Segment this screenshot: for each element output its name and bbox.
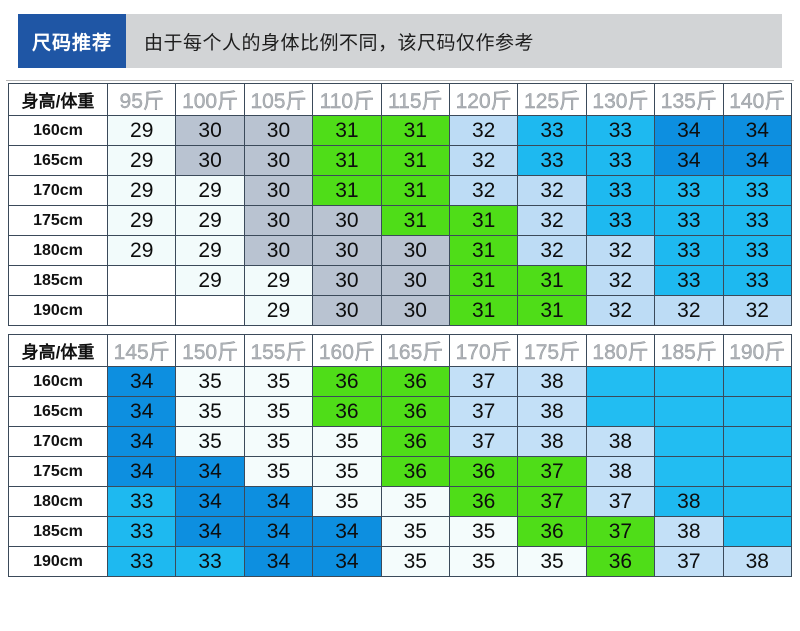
size-cell bbox=[723, 397, 791, 427]
size-cell: 29 bbox=[108, 206, 176, 236]
size-cell: 31 bbox=[381, 146, 449, 176]
table-1-header: 身高/体重95斤100斤105斤110斤115斤120斤125斤130斤135斤… bbox=[9, 84, 792, 116]
weight-column-header: 145斤 bbox=[108, 335, 176, 367]
size-cell bbox=[176, 296, 244, 326]
weight-column-header: 140斤 bbox=[723, 84, 791, 116]
size-cell bbox=[655, 457, 723, 487]
size-cell: 33 bbox=[655, 176, 723, 206]
size-cell: 32 bbox=[586, 266, 654, 296]
size-cell: 34 bbox=[108, 427, 176, 457]
size-cell: 30 bbox=[244, 236, 312, 266]
size-cell: 35 bbox=[381, 547, 449, 577]
size-cell bbox=[655, 367, 723, 397]
size-cell: 33 bbox=[586, 206, 654, 236]
size-cell bbox=[723, 367, 791, 397]
size-cell: 29 bbox=[108, 146, 176, 176]
size-cell: 33 bbox=[655, 206, 723, 236]
table-2-header-row: 身高/体重145斤150斤155斤160斤165斤170斤175斤180斤185… bbox=[9, 335, 792, 367]
weight-column-header: 130斤 bbox=[586, 84, 654, 116]
size-cell: 33 bbox=[586, 176, 654, 206]
size-cell: 36 bbox=[586, 547, 654, 577]
size-cell: 31 bbox=[313, 116, 381, 146]
size-cell: 36 bbox=[449, 457, 517, 487]
weight-column-header: 100斤 bbox=[176, 84, 244, 116]
size-cell: 36 bbox=[381, 457, 449, 487]
size-cell: 33 bbox=[723, 236, 791, 266]
size-cell: 30 bbox=[381, 296, 449, 326]
size-cell: 33 bbox=[518, 146, 586, 176]
banner-tag-label: 尺码推荐 bbox=[18, 14, 126, 68]
size-cell: 32 bbox=[449, 146, 517, 176]
size-cell: 29 bbox=[244, 266, 312, 296]
size-cell: 36 bbox=[381, 367, 449, 397]
height-row-header: 185cm bbox=[9, 266, 108, 296]
size-cell: 31 bbox=[449, 266, 517, 296]
size-cell: 30 bbox=[313, 236, 381, 266]
size-cell: 34 bbox=[108, 397, 176, 427]
size-cell: 38 bbox=[723, 547, 791, 577]
size-cell: 33 bbox=[108, 487, 176, 517]
size-cell: 33 bbox=[655, 236, 723, 266]
height-row-header: 160cm bbox=[9, 367, 108, 397]
size-cell: 29 bbox=[108, 236, 176, 266]
size-cell: 32 bbox=[586, 236, 654, 266]
size-cell: 34 bbox=[244, 517, 312, 547]
size-cell bbox=[723, 457, 791, 487]
size-cell bbox=[723, 427, 791, 457]
table-row: 180cm29293030303132323333 bbox=[9, 236, 792, 266]
size-cell bbox=[723, 517, 791, 547]
height-row-header: 160cm bbox=[9, 116, 108, 146]
size-cell: 30 bbox=[313, 206, 381, 236]
size-cell: 33 bbox=[723, 206, 791, 236]
recommendation-banner: 尺码推荐 由于每个人的身体比例不同，该尺码仅作参考 bbox=[18, 14, 782, 68]
size-cell: 34 bbox=[108, 367, 176, 397]
size-cell: 37 bbox=[518, 487, 586, 517]
size-cell: 29 bbox=[176, 236, 244, 266]
size-cell: 31 bbox=[313, 176, 381, 206]
size-cell: 32 bbox=[449, 176, 517, 206]
size-cell: 30 bbox=[244, 146, 312, 176]
corner-header-table1: 身高/体重 bbox=[9, 84, 108, 116]
size-cell: 29 bbox=[176, 176, 244, 206]
weight-column-header: 190斤 bbox=[723, 335, 791, 367]
size-cell: 36 bbox=[313, 367, 381, 397]
table-1-wrapper: 身高/体重95斤100斤105斤110斤115斤120斤125斤130斤135斤… bbox=[8, 83, 792, 326]
size-cell: 29 bbox=[176, 266, 244, 296]
height-row-header: 165cm bbox=[9, 146, 108, 176]
weight-column-header: 185斤 bbox=[655, 335, 723, 367]
table-row: 175cm29293030313132333333 bbox=[9, 206, 792, 236]
height-row-header: 190cm bbox=[9, 547, 108, 577]
size-chart-page: 尺码推荐 由于每个人的身体比例不同，该尺码仅作参考 身高/体重95斤100斤10… bbox=[0, 14, 800, 631]
size-cell: 37 bbox=[449, 367, 517, 397]
size-cell: 32 bbox=[655, 296, 723, 326]
table-2-header: 身高/体重145斤150斤155斤160斤165斤170斤175斤180斤185… bbox=[9, 335, 792, 367]
size-cell: 30 bbox=[381, 236, 449, 266]
size-cell: 35 bbox=[381, 517, 449, 547]
table-row: 165cm29303031313233333434 bbox=[9, 146, 792, 176]
size-cell: 38 bbox=[655, 517, 723, 547]
weight-column-header: 125斤 bbox=[518, 84, 586, 116]
size-cell: 34 bbox=[655, 116, 723, 146]
weight-column-header: 135斤 bbox=[655, 84, 723, 116]
weight-column-header: 120斤 bbox=[449, 84, 517, 116]
size-cell: 32 bbox=[586, 296, 654, 326]
size-cell: 34 bbox=[108, 457, 176, 487]
size-cell: 30 bbox=[244, 116, 312, 146]
size-cell: 34 bbox=[176, 487, 244, 517]
size-cell: 34 bbox=[244, 547, 312, 577]
size-cell: 37 bbox=[449, 427, 517, 457]
size-cell: 30 bbox=[244, 176, 312, 206]
size-cell: 35 bbox=[313, 427, 381, 457]
size-cell: 34 bbox=[313, 517, 381, 547]
size-cell: 35 bbox=[176, 367, 244, 397]
size-cell: 35 bbox=[244, 367, 312, 397]
table-row: 165cm34353536363738 bbox=[9, 397, 792, 427]
size-cell: 33 bbox=[723, 266, 791, 296]
weight-column-header: 165斤 bbox=[381, 335, 449, 367]
size-cell: 29 bbox=[176, 206, 244, 236]
size-cell bbox=[723, 487, 791, 517]
weight-column-header: 115斤 bbox=[381, 84, 449, 116]
size-cell: 36 bbox=[518, 517, 586, 547]
table-row: 185cm292930303131323333 bbox=[9, 266, 792, 296]
size-cell: 35 bbox=[244, 397, 312, 427]
size-cell: 31 bbox=[518, 296, 586, 326]
size-cell: 34 bbox=[244, 487, 312, 517]
size-table-light-weights: 身高/体重95斤100斤105斤110斤115斤120斤125斤130斤135斤… bbox=[8, 83, 792, 326]
height-row-header: 170cm bbox=[9, 176, 108, 206]
table-row: 180cm333434353536373738 bbox=[9, 487, 792, 517]
size-cell: 34 bbox=[655, 146, 723, 176]
size-cell: 33 bbox=[655, 266, 723, 296]
size-cell: 30 bbox=[176, 146, 244, 176]
size-cell: 31 bbox=[449, 296, 517, 326]
size-cell: 38 bbox=[518, 367, 586, 397]
size-cell: 30 bbox=[313, 296, 381, 326]
size-cell: 35 bbox=[449, 547, 517, 577]
size-cell: 38 bbox=[586, 457, 654, 487]
size-cell: 36 bbox=[449, 487, 517, 517]
size-cell: 37 bbox=[655, 547, 723, 577]
size-cell: 35 bbox=[244, 427, 312, 457]
size-cell: 36 bbox=[381, 427, 449, 457]
size-cell: 34 bbox=[723, 146, 791, 176]
size-cell: 34 bbox=[313, 547, 381, 577]
height-row-header: 185cm bbox=[9, 517, 108, 547]
size-table-heavy-weights: 身高/体重145斤150斤155斤160斤165斤170斤175斤180斤185… bbox=[8, 334, 792, 577]
size-cell: 29 bbox=[108, 116, 176, 146]
table-1-body: 160cm29303031313233333434165cm2930303131… bbox=[9, 116, 792, 326]
weight-column-header: 180斤 bbox=[586, 335, 654, 367]
weight-column-header: 95斤 bbox=[108, 84, 176, 116]
size-cell bbox=[586, 367, 654, 397]
size-cell: 33 bbox=[723, 176, 791, 206]
size-cell: 37 bbox=[586, 517, 654, 547]
size-cell: 35 bbox=[313, 487, 381, 517]
size-cell: 30 bbox=[244, 206, 312, 236]
table-2-wrapper: 身高/体重145斤150斤155斤160斤165斤170斤175斤180斤185… bbox=[8, 334, 792, 577]
size-cell: 31 bbox=[518, 266, 586, 296]
banner-note-text: 由于每个人的身体比例不同，该尺码仅作参考 bbox=[126, 14, 782, 68]
table-1-header-row: 身高/体重95斤100斤105斤110斤115斤120斤125斤130斤135斤… bbox=[9, 84, 792, 116]
size-cell: 32 bbox=[723, 296, 791, 326]
size-cell bbox=[655, 397, 723, 427]
size-cell: 35 bbox=[518, 547, 586, 577]
table-row: 190cm2930303131323232 bbox=[9, 296, 792, 326]
size-cell: 34 bbox=[723, 116, 791, 146]
table-row: 175cm3434353536363738 bbox=[9, 457, 792, 487]
size-cell: 38 bbox=[518, 397, 586, 427]
size-cell bbox=[108, 266, 176, 296]
size-cell: 31 bbox=[449, 206, 517, 236]
height-row-header: 165cm bbox=[9, 397, 108, 427]
size-cell: 32 bbox=[518, 236, 586, 266]
corner-header-table2: 身高/体重 bbox=[9, 335, 108, 367]
size-cell: 34 bbox=[176, 457, 244, 487]
size-cell bbox=[108, 296, 176, 326]
height-row-header: 180cm bbox=[9, 236, 108, 266]
size-cell: 31 bbox=[313, 146, 381, 176]
size-cell: 29 bbox=[244, 296, 312, 326]
size-cell: 30 bbox=[381, 266, 449, 296]
weight-column-header: 155斤 bbox=[244, 335, 312, 367]
height-row-header: 175cm bbox=[9, 206, 108, 236]
size-cell: 33 bbox=[518, 116, 586, 146]
size-cell: 35 bbox=[244, 457, 312, 487]
table-row: 170cm29293031313232333333 bbox=[9, 176, 792, 206]
size-cell: 33 bbox=[108, 547, 176, 577]
size-cell: 38 bbox=[518, 427, 586, 457]
weight-column-header: 105斤 bbox=[244, 84, 312, 116]
divider-rule bbox=[6, 80, 794, 81]
size-cell: 36 bbox=[313, 397, 381, 427]
size-cell: 33 bbox=[586, 116, 654, 146]
weight-column-header: 175斤 bbox=[518, 335, 586, 367]
size-cell: 33 bbox=[586, 146, 654, 176]
weight-column-header: 110斤 bbox=[313, 84, 381, 116]
height-row-header: 175cm bbox=[9, 457, 108, 487]
table-row: 170cm3435353536373838 bbox=[9, 427, 792, 457]
size-cell bbox=[655, 427, 723, 457]
weight-column-header: 160斤 bbox=[313, 335, 381, 367]
height-row-header: 170cm bbox=[9, 427, 108, 457]
size-cell: 37 bbox=[586, 487, 654, 517]
size-cell: 36 bbox=[381, 397, 449, 427]
table-row: 160cm34353536363738 bbox=[9, 367, 792, 397]
weight-column-header: 170斤 bbox=[449, 335, 517, 367]
size-cell: 31 bbox=[381, 176, 449, 206]
height-row-header: 190cm bbox=[9, 296, 108, 326]
table-row: 185cm333434343535363738 bbox=[9, 517, 792, 547]
size-cell: 29 bbox=[108, 176, 176, 206]
table-row: 190cm33333434353535363738 bbox=[9, 547, 792, 577]
size-cell: 34 bbox=[176, 517, 244, 547]
size-cell: 33 bbox=[176, 547, 244, 577]
size-cell: 31 bbox=[381, 116, 449, 146]
size-cell bbox=[586, 397, 654, 427]
size-cell: 32 bbox=[518, 206, 586, 236]
size-cell: 30 bbox=[313, 266, 381, 296]
size-cell: 32 bbox=[518, 176, 586, 206]
size-cell: 35 bbox=[313, 457, 381, 487]
table-2-body: 160cm34353536363738165cm3435353636373817… bbox=[9, 367, 792, 577]
size-cell: 32 bbox=[449, 116, 517, 146]
size-cell: 30 bbox=[176, 116, 244, 146]
size-cell: 35 bbox=[176, 397, 244, 427]
size-cell: 35 bbox=[381, 487, 449, 517]
size-cell: 35 bbox=[449, 517, 517, 547]
size-cell: 37 bbox=[518, 457, 586, 487]
size-cell: 31 bbox=[449, 236, 517, 266]
size-cell: 35 bbox=[176, 427, 244, 457]
height-row-header: 180cm bbox=[9, 487, 108, 517]
weight-column-header: 150斤 bbox=[176, 335, 244, 367]
table-row: 160cm29303031313233333434 bbox=[9, 116, 792, 146]
size-cell: 38 bbox=[655, 487, 723, 517]
size-cell: 33 bbox=[108, 517, 176, 547]
size-cell: 31 bbox=[381, 206, 449, 236]
size-cell: 38 bbox=[586, 427, 654, 457]
size-cell: 37 bbox=[449, 397, 517, 427]
